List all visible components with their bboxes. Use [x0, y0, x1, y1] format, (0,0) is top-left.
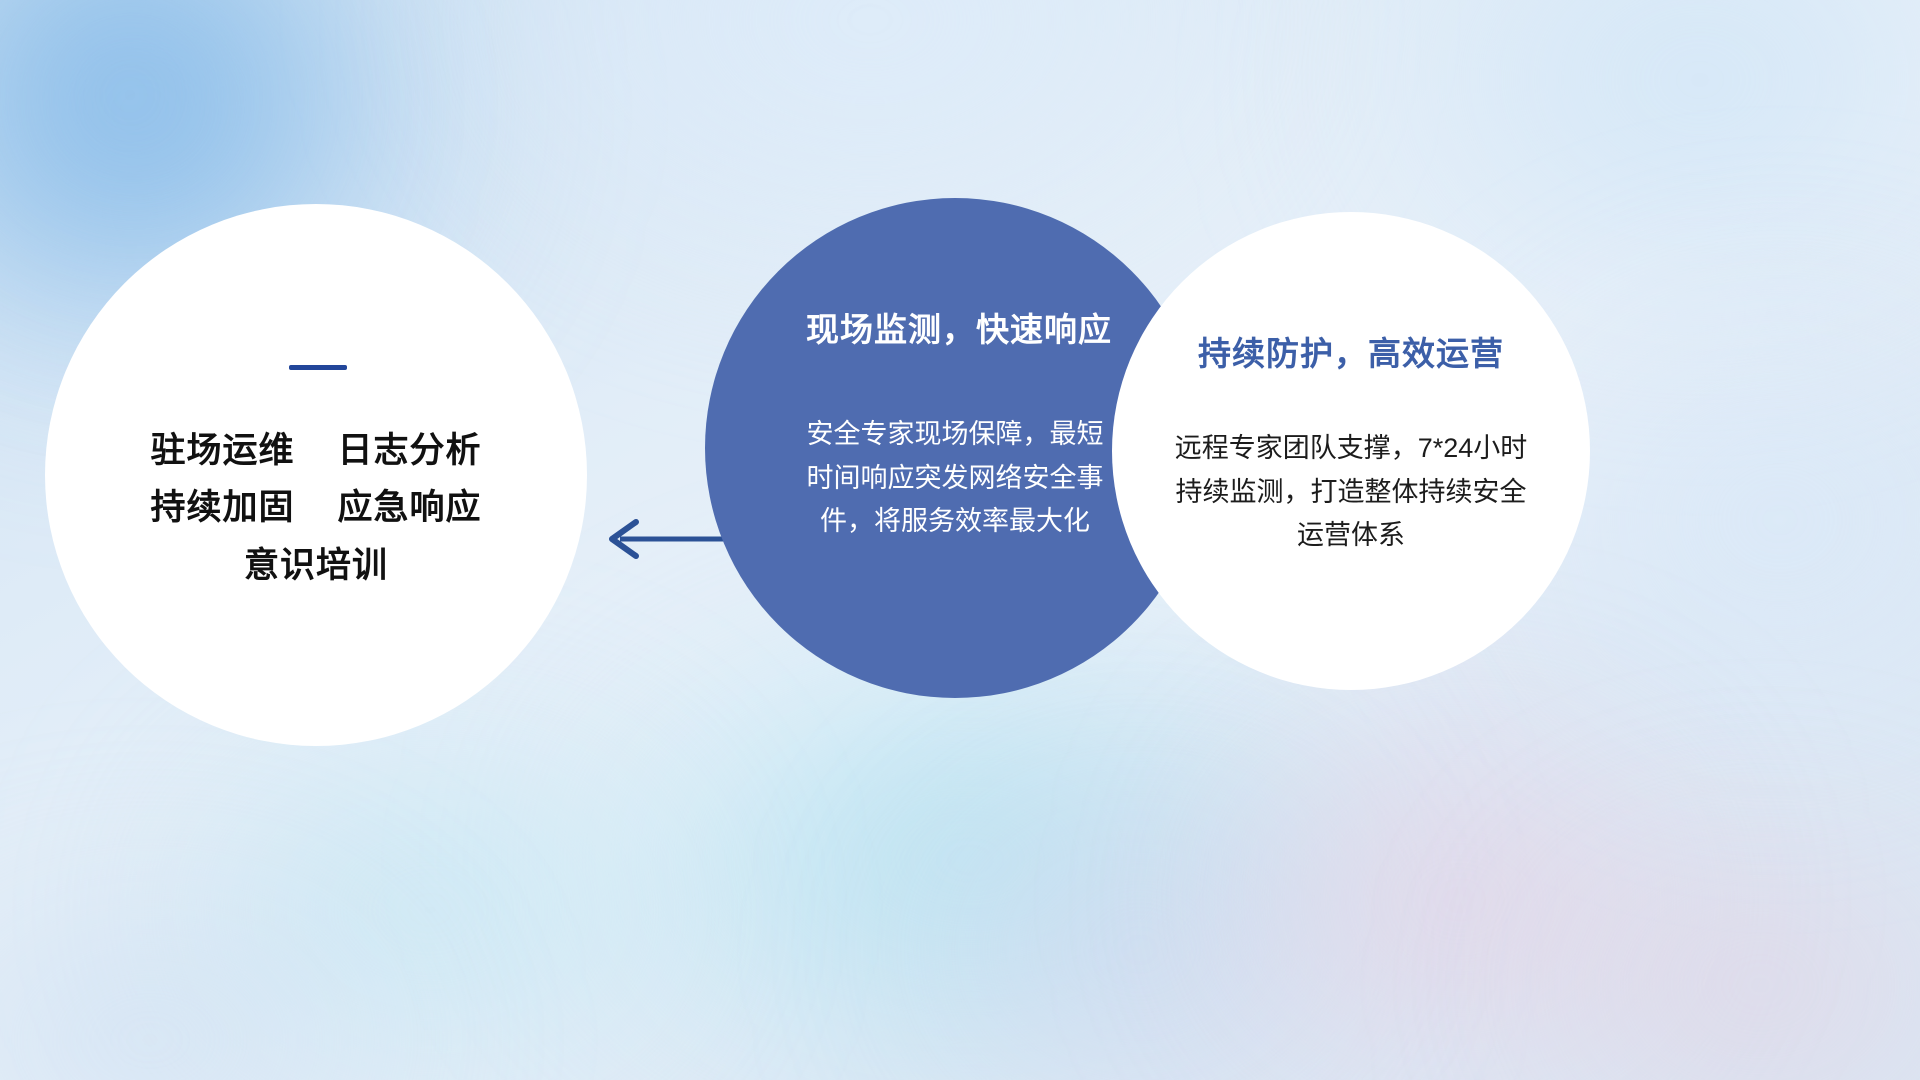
- accent-dash-divider: [289, 365, 347, 370]
- middle-circle-description: 安全专家现场保障，最短时间响应突发网络安全事件，将服务效率最大化: [795, 413, 1115, 544]
- left-circle-keyword-list: 驻场运维 日志分析 持续加固 应急响应 意识培训: [151, 432, 482, 586]
- left-service-circle[interactable]: 驻场运维 日志分析 持续加固 应急响应 意识培训: [45, 204, 587, 746]
- right-circle-content: 持续防护，高效运营 远程专家团队支撑，7*24小时持续监测，打造整体持续安全运营…: [1112, 212, 1590, 690]
- right-service-circle[interactable]: 持续防护，高效运营 远程专家团队支撑，7*24小时持续监测，打造整体持续安全运营…: [1112, 212, 1590, 690]
- middle-circle-title: 现场监测，快速响应: [806, 303, 1112, 351]
- left-keyword-line: 持续加固 应急响应: [151, 489, 482, 528]
- left-keyword-line: 意识培训: [244, 547, 388, 586]
- left-keyword-line: 驻场运维 日志分析: [151, 432, 482, 471]
- right-circle-description: 远程专家团队支撑，7*24小时持续监测，打造整体持续安全运营体系: [1170, 427, 1532, 558]
- right-circle-title: 持续防护，高效运营: [1198, 327, 1504, 375]
- slide-canvas: 驻场运维 日志分析 持续加固 应急响应 意识培训 现场监测，快速响应 安全专家现…: [0, 0, 1920, 1080]
- left-circle-content: 驻场运维 日志分析 持续加固 应急响应 意识培训: [45, 204, 587, 746]
